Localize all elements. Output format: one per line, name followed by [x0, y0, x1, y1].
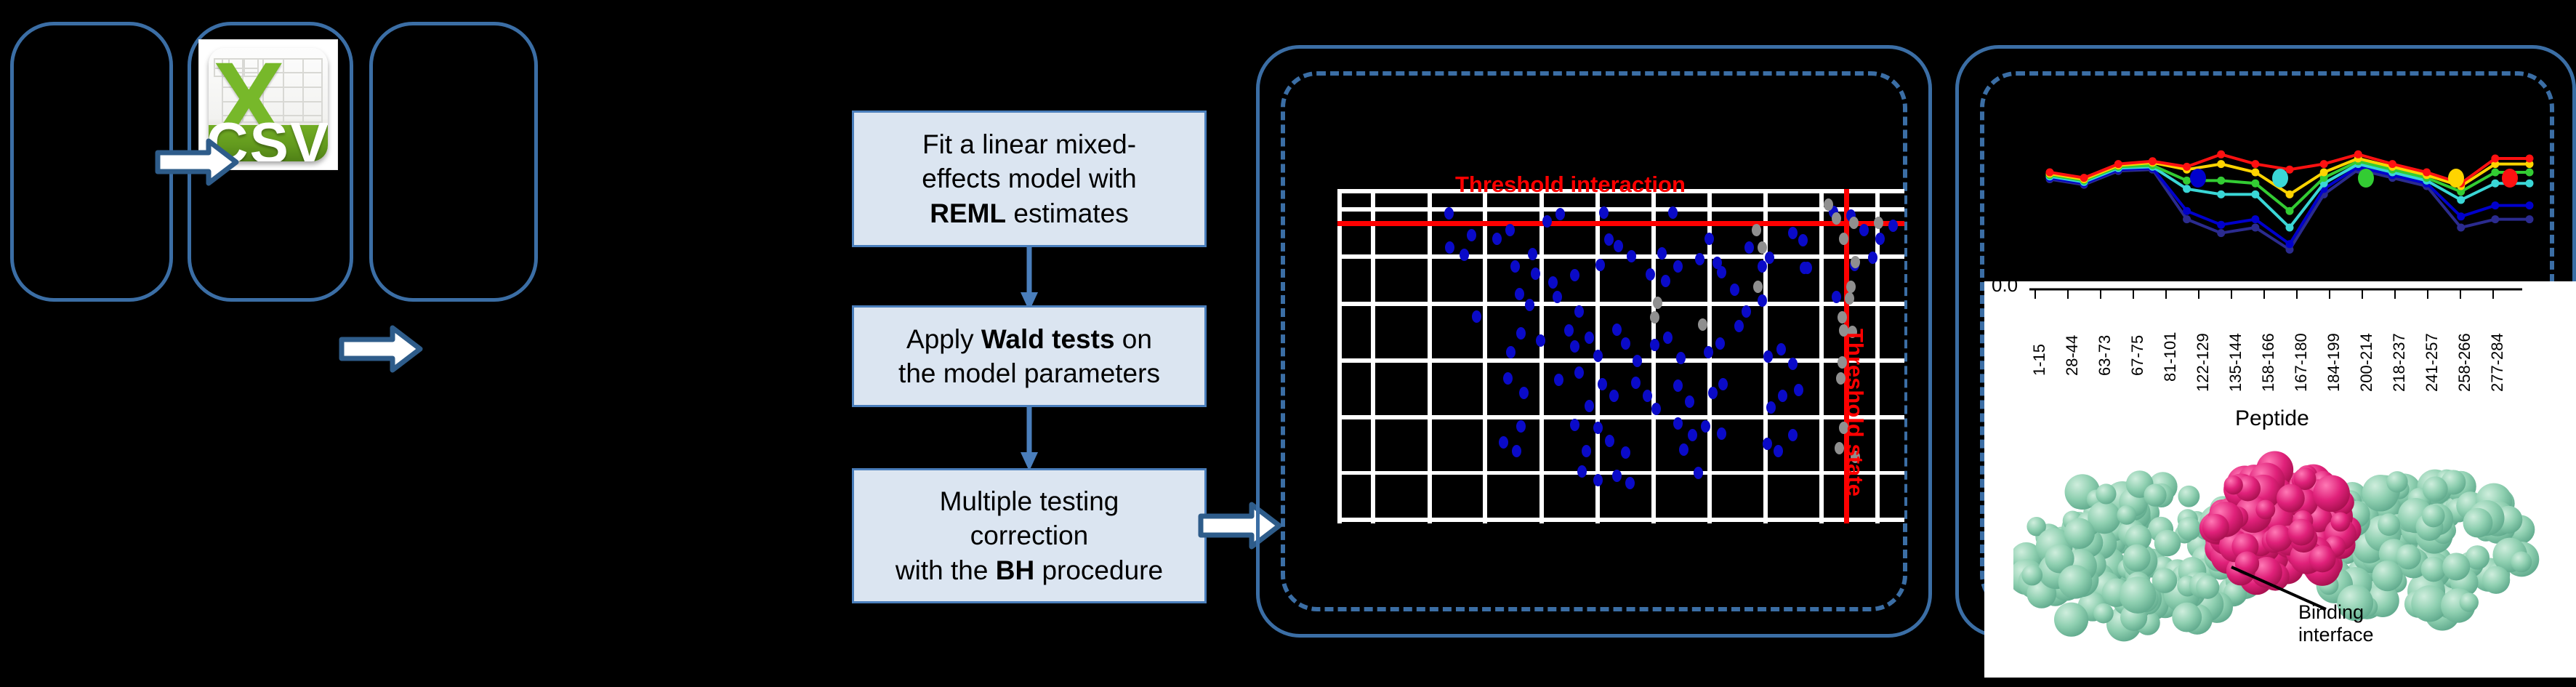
data-point	[1875, 233, 1885, 245]
data-point	[1744, 241, 1754, 254]
peptide-tick-label: 218-237	[2390, 333, 2409, 392]
grid-line-v	[1483, 189, 1487, 523]
arrow-input-to-csv	[155, 138, 239, 186]
data-point	[1604, 233, 1614, 246]
data-point	[1794, 384, 1803, 396]
data-point	[1570, 269, 1579, 281]
data-point-outlier	[1838, 311, 1847, 324]
data-point	[1599, 206, 1609, 219]
connector-wald-to-bh	[1018, 407, 1041, 473]
data-point	[1774, 445, 1783, 457]
binding-interface-line1: Binding	[2298, 601, 2374, 624]
connector-fit-to-wald	[1018, 247, 1041, 313]
reml-emphasis: REML	[930, 198, 1006, 228]
data-point-outlier	[1758, 241, 1767, 254]
peptide-structure-figure: 0.0 1-15 28-44 63-73 67-75 81-101 122-12…	[1984, 281, 2576, 678]
data-point	[1788, 358, 1798, 370]
data-point	[1798, 234, 1808, 246]
data-point	[1859, 224, 1869, 236]
data-point	[1564, 324, 1574, 337]
data-point	[1542, 215, 1552, 228]
peptide-tick-label: 122-129	[2194, 333, 2213, 392]
data-point	[1832, 291, 1841, 303]
peptide-tick-label: 67-75	[2128, 335, 2147, 376]
step-fit-model-box[interactable]: Fit a linear mixed- effects model with R…	[852, 111, 1207, 247]
data-point	[1510, 260, 1520, 273]
data-point	[1631, 377, 1641, 389]
data-point	[1657, 247, 1667, 260]
data-point	[1445, 241, 1454, 254]
peptide-tick-label: 135-144	[2226, 333, 2245, 392]
grid-line-v	[1428, 189, 1432, 523]
data-point-outlier	[1851, 256, 1860, 268]
data-point	[1499, 436, 1508, 449]
data-point	[1553, 291, 1562, 303]
grid-line-v	[1819, 189, 1824, 523]
threshold-state-label: Threshold state	[1842, 329, 1868, 497]
data-point-outlier	[1845, 292, 1854, 305]
data-point	[1788, 227, 1798, 239]
peptide-tick-label: 158-166	[2259, 333, 2278, 392]
data-point	[1868, 252, 1877, 264]
data-point	[1593, 474, 1603, 486]
arrow-csv-to-statistics	[339, 325, 423, 373]
data-point	[1788, 429, 1798, 441]
legend-dot-red	[2502, 169, 2518, 188]
data-point	[1467, 229, 1476, 241]
data-point	[1718, 378, 1728, 390]
data-point	[1506, 346, 1516, 358]
data-point	[1585, 400, 1594, 412]
threshold-interaction-line	[1337, 221, 1904, 226]
x-axis	[1984, 281, 2576, 303]
data-point	[1614, 240, 1623, 252]
data-point	[1627, 250, 1636, 262]
peptide-tick-label: 63-73	[2096, 335, 2114, 376]
data-point-outlier	[1753, 281, 1763, 293]
wald-emphasis: Wald tests	[981, 324, 1115, 354]
data-point-outlier	[1653, 297, 1662, 309]
legend-dot-yellow	[2448, 169, 2464, 188]
data-point-outlier	[1839, 233, 1848, 245]
data-point	[1758, 294, 1767, 307]
data-point	[1612, 324, 1622, 336]
data-point	[1673, 417, 1683, 430]
data-point	[1621, 337, 1630, 350]
data-point	[1663, 332, 1673, 344]
data-point	[1800, 262, 1809, 274]
data-point	[1593, 350, 1603, 362]
data-point	[1582, 445, 1591, 457]
data-point	[1574, 305, 1584, 318]
data-point	[1766, 401, 1776, 414]
data-point	[1646, 268, 1655, 281]
data-point	[1593, 422, 1603, 434]
data-point	[1633, 355, 1642, 367]
data-point	[1778, 390, 1787, 402]
data-point	[1717, 427, 1726, 440]
data-point	[1888, 220, 1898, 232]
peptide-tick-label: 1-15	[2030, 344, 2049, 376]
data-point	[1673, 260, 1683, 273]
statistics-panel	[369, 22, 538, 302]
legend-dot-green	[2358, 169, 2374, 188]
data-point	[1595, 259, 1605, 271]
data-point	[1673, 379, 1683, 392]
data-point	[1695, 253, 1704, 265]
data-point	[1574, 366, 1584, 379]
input-panel	[10, 22, 173, 302]
data-point-outlier	[1874, 217, 1883, 229]
legend-dot-cyan	[2272, 169, 2288, 188]
data-point	[1515, 288, 1524, 300]
data-point	[1519, 387, 1529, 399]
grid-line-v	[1371, 189, 1375, 523]
peptide-tick-label: 277-284	[2488, 333, 2507, 392]
protein-structure-image	[2013, 438, 2551, 670]
data-point	[1765, 252, 1774, 264]
data-point-outlier	[1832, 212, 1841, 225]
peptide-tick-label: 200-214	[2357, 333, 2376, 392]
peptide-tick-label: 258-266	[2455, 333, 2474, 392]
data-point	[1570, 340, 1579, 353]
excel-x-glyph: X	[212, 50, 259, 105]
data-point	[1763, 438, 1772, 450]
data-point	[1661, 275, 1670, 287]
data-point	[1472, 310, 1481, 323]
data-point	[1555, 208, 1565, 220]
data-point	[1650, 339, 1659, 351]
data-point	[1525, 299, 1534, 311]
data-point	[1621, 446, 1630, 459]
data-point-outlier	[1849, 217, 1859, 229]
data-point	[1536, 334, 1545, 347]
data-point	[1503, 372, 1513, 385]
grid-line-v	[1539, 189, 1544, 523]
data-point	[1763, 350, 1773, 363]
data-point	[1570, 419, 1579, 431]
data-point-outlier	[1698, 318, 1707, 331]
step-multiple-testing-box[interactable]: Multiple testing correction with the BH …	[852, 468, 1207, 603]
data-point	[1694, 467, 1703, 479]
data-point	[1688, 429, 1697, 441]
x-axis-title: Peptide	[2235, 406, 2309, 431]
data-point	[1704, 346, 1713, 358]
data-point-outlier	[1752, 224, 1761, 236]
data-point-outlier	[1824, 198, 1833, 211]
data-point	[1585, 332, 1594, 344]
data-point	[1531, 268, 1540, 280]
peptide-tick-label: 241-257	[2423, 333, 2442, 392]
peptide-tick-label: 28-44	[2063, 335, 2082, 376]
data-point	[1717, 266, 1726, 278]
data-point	[1643, 390, 1652, 402]
grid-line-v	[1651, 189, 1656, 523]
binding-interface-line2: interface	[2298, 624, 2374, 646]
threshold-interaction-label: Threshold interaction	[1455, 172, 1686, 198]
data-point	[1609, 390, 1619, 402]
data-point	[1679, 443, 1689, 456]
data-point	[1605, 435, 1614, 447]
peptide-tick-label: 81-101	[2161, 332, 2180, 382]
grid-line-v	[1337, 189, 1342, 523]
bh-emphasis: BH	[996, 555, 1034, 585]
data-point	[1505, 224, 1515, 236]
data-point	[1612, 470, 1622, 482]
binding-interface-annotation: Binding interface	[2298, 601, 2374, 646]
peptide-tick-label: 184-199	[2325, 333, 2343, 392]
data-point	[1708, 387, 1718, 399]
data-point	[1776, 343, 1786, 355]
data-point	[1516, 327, 1526, 340]
data-point	[1734, 320, 1744, 332]
data-point	[1685, 395, 1694, 408]
data-point	[1548, 276, 1558, 289]
data-point	[1625, 477, 1635, 489]
data-point	[1715, 337, 1725, 350]
data-point	[1516, 420, 1526, 433]
legend-dot-blue	[2190, 169, 2206, 188]
data-point	[1512, 445, 1521, 457]
data-point	[1730, 284, 1739, 296]
data-point	[1460, 249, 1469, 261]
data-point	[1492, 233, 1502, 245]
data-point	[1676, 352, 1686, 364]
data-point	[1701, 420, 1710, 433]
data-point	[1598, 378, 1607, 390]
data-point	[1444, 207, 1454, 220]
data-point	[1668, 206, 1678, 219]
threshold-scatter-plot	[1337, 189, 1904, 523]
data-point	[1704, 233, 1714, 245]
step-fit-model-text: Fit a linear mixed- effects model with R…	[922, 127, 1136, 230]
step-wald-tests-box[interactable]: Apply Wald tests on the model parameters	[852, 305, 1207, 407]
data-point-outlier	[1650, 311, 1659, 324]
data-point-outlier	[1846, 281, 1856, 293]
peptide-tick-label: 167-180	[2292, 333, 2311, 392]
step-wald-tests-text: Apply Wald tests on the model parameters	[898, 322, 1160, 391]
data-point	[1742, 305, 1751, 318]
peptide-line-chart	[2021, 134, 2566, 287]
data-point	[1554, 374, 1563, 386]
data-point	[1528, 248, 1537, 260]
data-point	[1651, 403, 1661, 415]
step-multiple-testing-text: Multiple testing correction with the BH …	[895, 484, 1163, 587]
data-point	[1577, 465, 1587, 478]
